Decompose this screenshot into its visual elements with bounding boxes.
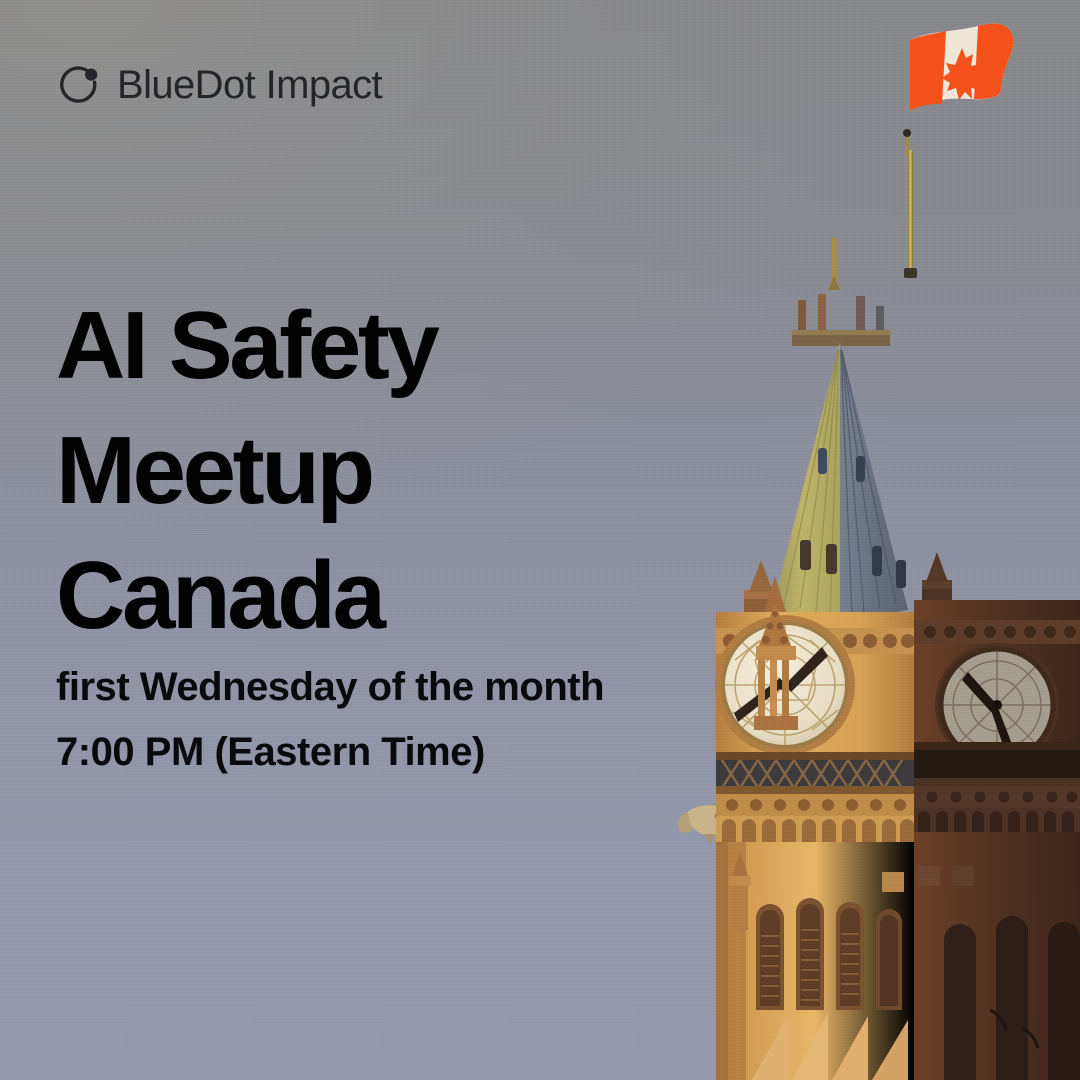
page-title: AI Safety Meetup Canada [56,284,716,658]
headline-line-3: Canada [56,534,716,659]
poster-canvas: BlueDot Impact AI Safety Meetup Canada f… [0,0,1080,1080]
bluedot-impact-logo[interactable]: BlueDot Impact [56,62,382,108]
schedule-time: 7:00 PM (Eastern Time) [56,720,756,785]
event-schedule: first Wednesday of the month 7:00 PM (Ea… [56,655,756,785]
bluedot-circle-mark-icon [56,62,102,108]
schedule-recurrence: first Wednesday of the month [56,655,756,720]
headline-line-2: Meetup [56,409,716,534]
headline-line-1: AI Safety [56,284,716,409]
logo-wordmark: BlueDot Impact [117,65,382,105]
